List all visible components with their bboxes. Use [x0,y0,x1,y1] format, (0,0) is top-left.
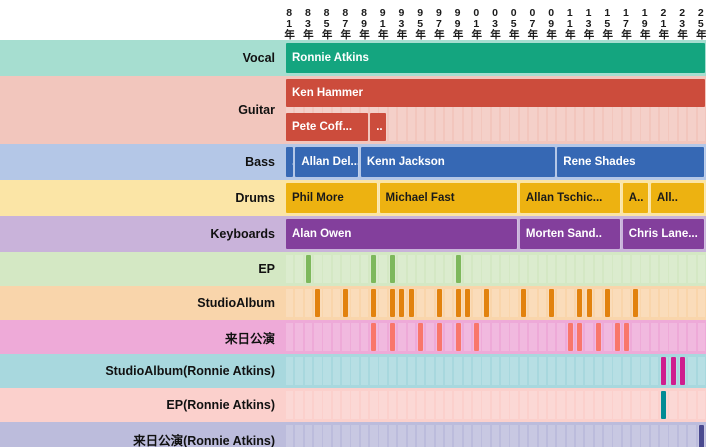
grid-cell [529,323,537,351]
timeline-mark[interactable] [671,357,676,385]
grid-cell [641,391,649,419]
row-label-text: Vocal [243,51,275,65]
grid-cell [361,357,369,385]
year-tick-2017: 17年 [620,7,631,39]
grid-cell [445,255,453,283]
grid-cell [567,425,575,447]
row-label-5: Keyboards [0,216,285,252]
grid-cell [585,323,593,351]
grid-cell [641,357,649,385]
grid-cell [314,425,322,447]
year-tick-1991: 91年 [377,7,388,39]
grid-cell [623,255,631,283]
year-tick-1995: 95年 [415,7,426,39]
timeline-row: StudioAlbum [0,286,706,320]
grid-cell [604,425,612,447]
grid-cell [651,425,659,447]
grid-cell [473,425,481,447]
grid-cell [510,357,518,385]
grid-cell [679,323,687,351]
timeline-mark[interactable] [343,289,348,317]
grid-cell [295,391,303,419]
grid-cell [361,255,369,283]
timeline-bar-label: .. [370,121,382,133]
year-tick-2021: 21年 [658,7,669,39]
grid-cell [417,289,425,317]
timeline-mark[interactable] [605,289,610,317]
timeline-mark[interactable] [437,289,442,317]
grid-cell [370,425,378,447]
grid-cell [482,255,490,283]
grid-cell [314,357,322,385]
timeline-row: EP [0,252,706,286]
grid-cell [314,391,322,419]
year-tick-2005: 05年 [508,7,519,39]
timeline-mark[interactable] [306,255,311,283]
grid-cell [651,357,659,385]
grid-cell [492,425,500,447]
year-tick-1983: 83年 [302,7,313,39]
timeline-bar-label: Alan Owen [286,228,351,240]
grid-cell [436,425,444,447]
row-label-8: 来日公演 [0,320,285,354]
grid-cell [585,357,593,385]
grid-cell [333,391,341,419]
grid-cell [305,357,313,385]
grid-cell [613,425,621,447]
grid-cell [529,425,537,447]
grid-cell [698,357,706,385]
row-track [285,252,706,286]
grid-cell [595,255,603,283]
row-track [285,388,706,422]
grid-cell [623,391,631,419]
grid-cell [323,425,331,447]
grid-cell [295,323,303,351]
grid-cell [539,391,547,419]
grid-cell [436,391,444,419]
grid-cell [417,255,425,283]
grid-cell [698,255,706,283]
timeline-mark[interactable] [390,323,395,351]
grid-cell [576,255,584,283]
grid-cell [501,391,509,419]
year-tick-1999: 99年 [452,7,463,39]
timeline-bar-label: Morten Sand.. [520,228,602,240]
timeline-mark[interactable] [409,289,414,317]
grid-cell [314,255,322,283]
year-tick-1989: 89年 [359,7,370,39]
grid-cell [417,357,425,385]
year-tick-1981: 81年 [284,7,295,39]
year-tick-2015: 15年 [602,7,613,39]
grid-cell [510,289,518,317]
row-label-9: StudioAlbum(Ronnie Atkins) [0,354,285,388]
timeline-bar-label: .. [286,156,293,168]
grid-cell [623,289,631,317]
grid-cell [520,425,528,447]
grid-cell [361,425,369,447]
grid-cell [426,391,434,419]
timeline-bar[interactable]: Allan Tschic... [520,183,620,213]
grid-cell [613,391,621,419]
grid-cell [379,323,387,351]
grid-cell [408,323,416,351]
grid-cell [510,255,518,283]
timeline-mark[interactable] [371,289,376,317]
grid-cell [445,323,453,351]
grid-cell [604,391,612,419]
grid-cell [333,425,341,447]
timeline-mark[interactable] [699,425,704,447]
grid-cell [520,323,528,351]
timeline-mark[interactable] [661,357,666,385]
grid-cell [632,255,640,283]
grid-cell [501,255,509,283]
grid-cell [482,425,490,447]
grid-cell [464,357,472,385]
timeline-bar[interactable]: Alan Owen [286,219,517,249]
grid-cell [520,357,528,385]
timeline-bar[interactable]: .. [370,113,386,141]
grid-cell [539,323,547,351]
grid-cell [361,323,369,351]
grid-cell [632,323,640,351]
grid-cell [389,391,397,419]
timeline-bar-label: Pete Coff... [286,121,352,133]
grid-cell [529,357,537,385]
grid-cell [660,289,668,317]
row-label-text: Bass [245,155,275,169]
row-label-text: EP [258,262,275,276]
year-tick-2001: 01年 [471,7,482,39]
timeline-mark[interactable] [456,255,461,283]
grid-cell [323,391,331,419]
grid-cell [286,391,294,419]
grid-cell [641,289,649,317]
grid-cell [351,255,359,283]
grid-cell [370,357,378,385]
grid-cell [567,255,575,283]
grid-cell [286,255,294,283]
grid-cell [651,391,659,419]
row-label-6: EP [0,252,285,286]
grid-cell [342,391,350,419]
timeline-mark[interactable] [680,357,685,385]
timeline-mark[interactable] [661,391,666,419]
timeline-bar[interactable]: Ken Hammer [286,79,705,107]
row-label-3: Bass [0,144,285,180]
timeline-bar-label: Phil More [286,192,344,204]
grid-cell [417,425,425,447]
year-tick-2003: 03年 [490,7,501,39]
grid-cell [286,323,294,351]
grid-cell [539,289,547,317]
grid-cell [660,255,668,283]
grid-cell [651,289,659,317]
timeline-mark[interactable] [484,289,489,317]
grid-cell [492,391,500,419]
timeline-grid: VocalRonnie AtkinsGuitarKen HammerPete C… [0,40,706,447]
row-label-2: Guitar [0,76,285,144]
grid-cell [417,391,425,419]
grid-cell [286,357,294,385]
grid-cell [370,391,378,419]
timeline-mark[interactable] [437,323,442,351]
grid-cell [688,357,696,385]
grid-cell [529,255,537,283]
grid-cell [567,357,575,385]
grid-cell [557,289,565,317]
grid-cell [698,391,706,419]
grid-cell [314,323,322,351]
timeline-bar[interactable]: Michael Fast [380,183,518,213]
grid-cell [567,289,575,317]
grid-cell [473,289,481,317]
timeline-bar[interactable]: Chris Lane... [623,219,705,249]
timeline-mark[interactable] [390,255,395,283]
row-label-11: 来日公演(Ronnie Atkins) [0,422,285,447]
grid-cell [623,425,631,447]
grid-cell [445,425,453,447]
grid-cell [632,425,640,447]
year-tick-2007: 07年 [527,7,538,39]
timeline-mark[interactable] [577,323,582,351]
timeline-mark[interactable] [315,289,320,317]
grid-cell [595,391,603,419]
grid-cell [548,391,556,419]
year-tick-2009: 09年 [546,7,557,39]
row-label-text: 来日公演 [225,328,275,347]
grid-cell [398,425,406,447]
row-label-text: Keyboards [210,227,275,241]
timeline-mark[interactable] [568,323,573,351]
grid-cell [576,391,584,419]
grid-cell [426,357,434,385]
grid-cell [510,323,518,351]
grid-cell [548,425,556,447]
timeline-mark[interactable] [633,289,638,317]
grid-cell [585,391,593,419]
year-tick-1997: 97年 [433,7,444,39]
grid-cell [576,425,584,447]
timeline-mark[interactable] [587,289,592,317]
grid-cell [669,391,677,419]
year-tick-2025: 25年 [695,7,706,39]
timeline-mark[interactable] [465,289,470,317]
timeline-mark[interactable] [456,289,461,317]
grid-cell [679,289,687,317]
timeline-bar[interactable]: Kenn Jackson [361,147,555,177]
grid-cell [660,323,668,351]
grid-cell [539,357,547,385]
timeline-mark[interactable] [474,323,479,351]
grid-cell [333,323,341,351]
row-track: Alan OwenMorten Sand..Chris Lane... [285,216,706,252]
grid-cell [342,255,350,283]
grid-cell [351,357,359,385]
grid-cell [464,425,472,447]
timeline-mark[interactable] [456,323,461,351]
grid-cell [351,289,359,317]
timeline-bar[interactable]: Pete Coff... [286,113,368,141]
row-track: Ronnie Atkins [285,40,706,76]
row-label-10: EP(Ronnie Atkins) [0,388,285,422]
row-track [285,354,706,388]
grid-cell [445,289,453,317]
timeline-bar[interactable]: Phil More [286,183,377,213]
timeline-bar[interactable]: Allan Del... [295,147,358,177]
grid-cell [445,391,453,419]
timeline-bar[interactable]: .. [286,147,293,177]
timeline-mark[interactable] [549,289,554,317]
grid-cell [501,323,509,351]
grid-cell [539,255,547,283]
grid-cell [464,255,472,283]
grid-cell [688,323,696,351]
year-tick-1987: 87年 [340,7,351,39]
grid-cell [660,425,668,447]
timeline-row: GuitarKen HammerPete Coff..... [0,76,706,144]
row-track [285,422,706,447]
grid-cell [333,289,341,317]
grid-cell [482,357,490,385]
timeline-bar[interactable]: All.. [651,183,705,213]
grid-cell [426,425,434,447]
grid-cell [604,323,612,351]
grid-cell [454,425,462,447]
timeline-bar[interactable]: Morten Sand.. [520,219,620,249]
row-label-text: 来日公演(Ronnie Atkins) [133,430,275,447]
grid-cell [520,255,528,283]
row-label-text: Drums [235,191,275,205]
timeline-row: StudioAlbum(Ronnie Atkins) [0,354,706,388]
timeline-mark[interactable] [577,289,582,317]
timeline-bar-label: Chris Lane... [623,228,698,240]
timeline-bar-label: Allan Del... [295,156,358,168]
year-axis-header: 81年83年85年87年89年91年93年95年97年99年01年03年05年0… [0,0,706,40]
grid-cell [379,425,387,447]
timeline-mark[interactable] [615,323,620,351]
grid-cell [623,357,631,385]
timeline-bar[interactable]: Ronnie Atkins [286,43,705,73]
grid-cell [641,323,649,351]
row-track [285,320,706,354]
grid-cell [669,323,677,351]
grid-cell [529,289,537,317]
grid-cell [548,323,556,351]
grid-cell [473,357,481,385]
timeline-mark[interactable] [371,255,376,283]
grid-cell [688,255,696,283]
grid-cell [585,425,593,447]
year-tick-2013: 13年 [583,7,594,39]
row-label-1: Vocal [0,40,285,76]
grid-cell [408,255,416,283]
timeline-mark[interactable] [521,289,526,317]
timeline-mark[interactable] [399,289,404,317]
grid-cell [539,425,547,447]
row-label-text: StudioAlbum(Ronnie Atkins) [105,364,275,378]
grid-cell [482,391,490,419]
grid-cell [436,357,444,385]
timeline-mark[interactable] [390,289,395,317]
row-track: ..Allan Del...Kenn JacksonRene Shades [285,144,706,180]
grid-cell [613,289,621,317]
grid-cell [557,425,565,447]
year-tick-1993: 93年 [396,7,407,39]
year-tick-2023: 23年 [677,7,688,39]
grid-cell [520,391,528,419]
grid-cell [398,357,406,385]
grid-cell [351,391,359,419]
grid-cell [295,425,303,447]
grid-cell [492,255,500,283]
grid-cell [379,357,387,385]
grid-cell [361,391,369,419]
timeline-bar-label: Kenn Jackson [361,156,445,168]
grid-cell [379,289,387,317]
grid-cell [323,289,331,317]
timeline-row: EP(Ronnie Atkins) [0,388,706,422]
grid-cell [351,323,359,351]
grid-cell [557,391,565,419]
grid-cell [482,323,490,351]
row-track [285,286,706,320]
grid-cell [651,255,659,283]
grid-cell [632,391,640,419]
grid-cell [548,357,556,385]
grid-cell [389,425,397,447]
grid-cell [408,391,416,419]
grid-cell [669,289,677,317]
grid-cell [323,357,331,385]
timeline-mark[interactable] [371,323,376,351]
timeline-bar[interactable]: Rene Shades [557,147,704,177]
grid-cell [632,357,640,385]
grid-cell [529,391,537,419]
timeline-bar[interactable]: A.. [623,183,649,213]
grid-cell [604,357,612,385]
grid-cell [426,323,434,351]
grid-cell [576,357,584,385]
row-label-text: EP(Ronnie Atkins) [166,398,275,412]
grid-cell [501,425,509,447]
grid-cell [342,357,350,385]
timeline-mark[interactable] [596,323,601,351]
grid-cell [501,289,509,317]
grid-cell [679,391,687,419]
year-tick-2011: 11年 [564,7,575,39]
grid-cell [501,357,509,385]
grid-cell [351,425,359,447]
grid-cell [305,391,313,419]
timeline-bar-label: Michael Fast [380,192,455,204]
grid-cell [454,357,462,385]
timeline-row: KeyboardsAlan OwenMorten Sand..Chris Lan… [0,216,706,252]
grid-cell [445,357,453,385]
row-label-7: StudioAlbum [0,286,285,320]
grid-cell [510,391,518,419]
timeline-mark[interactable] [418,323,423,351]
grid-cell [604,255,612,283]
grid-cell [408,425,416,447]
grid-cell [641,255,649,283]
grid-cell [510,425,518,447]
grid-cell [389,357,397,385]
timeline-mark[interactable] [624,323,629,351]
grid-cell [361,289,369,317]
